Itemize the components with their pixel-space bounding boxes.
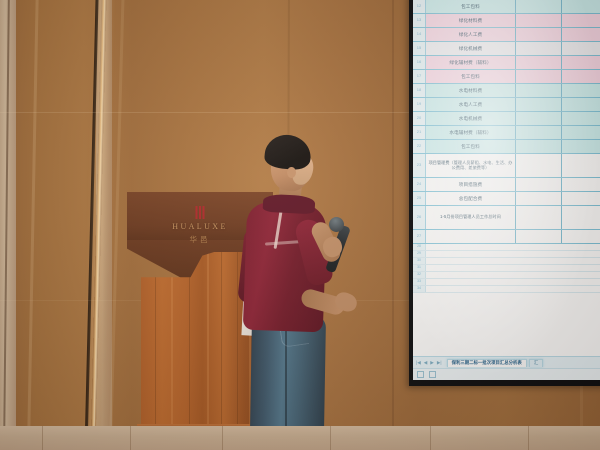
cell-value-c[interactable] (562, 192, 600, 205)
cell-empty[interactable] (426, 258, 600, 264)
cell-value-c[interactable] (562, 14, 600, 27)
table-row-empty[interactable]: 28 (413, 244, 600, 251)
cell-label[interactable]: 水电材料费 (426, 84, 516, 97)
cell-value-c[interactable] (562, 56, 600, 69)
row-header[interactable]: 27 (413, 230, 426, 243)
cell-label[interactable]: 总包配合费 (426, 192, 516, 205)
row-header[interactable]: 23 (413, 154, 426, 177)
table-row[interactable]: 24项目措施费 (413, 178, 600, 192)
table-row[interactable]: 14绿化人工费 (413, 28, 600, 42)
cell-label[interactable]: 绿化机械费 (426, 42, 516, 55)
cell-label[interactable]: 水电辅材费（辅料） (426, 126, 516, 139)
table-row[interactable]: 25总包配合费 (413, 192, 600, 206)
cell-value-c[interactable] (562, 70, 600, 83)
status-bar (413, 368, 600, 380)
cell-value-b[interactable] (516, 28, 562, 41)
cell-value-b[interactable] (516, 192, 562, 205)
row-header[interactable]: 13 (413, 14, 426, 27)
cell-empty[interactable] (426, 279, 600, 285)
table-row[interactable]: 21水电辅材费（辅料） (413, 126, 600, 140)
row-header[interactable]: 21 (413, 126, 426, 139)
cell-value-b[interactable] (516, 14, 562, 27)
cell-label[interactable]: 1-5月份项目管理人员工作总时间 (426, 206, 516, 229)
cell-value-c[interactable] (562, 0, 600, 13)
cell-value-c[interactable] (562, 154, 600, 177)
row-header[interactable]: 24 (413, 178, 426, 191)
cell-label[interactable]: 绿化人工费 (426, 28, 516, 41)
cell-value-b[interactable] (516, 42, 562, 55)
cell-value-c[interactable] (562, 42, 600, 55)
row-header[interactable]: 12 (413, 0, 426, 13)
row-header[interactable]: 32 (413, 272, 426, 278)
table-row[interactable]: 27 (413, 230, 600, 244)
spreadsheet-rows: 12包工包料13绿化材料费14绿化人工费15绿化机械费16绿化辅材费（辅料）17… (413, 0, 600, 244)
cell-value-b[interactable] (516, 126, 562, 139)
sheet-tab-next[interactable]: 汇 (529, 359, 543, 367)
cell-empty[interactable] (426, 265, 600, 271)
ready-icon (417, 371, 424, 378)
sheet-tab-active[interactable]: 保利三期二标一批次项目汇总分析表 (447, 359, 527, 367)
cell-value-c[interactable] (562, 112, 600, 125)
cell-label[interactable]: 包工包料 (426, 70, 516, 83)
cell-label[interactable]: 包工包料 (426, 140, 516, 153)
cell-label[interactable]: 包工包料 (426, 0, 516, 13)
next-sheet-icon[interactable]: ▶ (430, 360, 434, 365)
row-header[interactable]: 26 (413, 206, 426, 229)
presenter-hair (264, 133, 313, 171)
cell-empty[interactable] (426, 244, 600, 250)
cell-empty[interactable] (426, 286, 600, 292)
sheet-nav-buttons[interactable]: |◀ ◀ ▶ ▶| (413, 360, 445, 365)
cell-value-b[interactable] (516, 84, 562, 97)
cell-value-b[interactable] (516, 0, 562, 13)
row-header[interactable]: 15 (413, 42, 426, 55)
cell-label[interactable]: 绿化辅材费（辅料） (426, 56, 516, 69)
table-row[interactable]: 19水电人工费 (413, 98, 600, 112)
cell-empty[interactable] (426, 251, 600, 257)
cell-value-b[interactable] (516, 178, 562, 191)
table-row-empty[interactable]: 32 (413, 272, 600, 279)
table-row[interactable]: 12包工包料 (413, 0, 600, 14)
floor-seam-1 (42, 426, 43, 450)
cell-value-c[interactable] (562, 140, 600, 153)
cell-label[interactable]: 水电机械费 (426, 112, 516, 125)
wall-seam-6 (392, 0, 394, 450)
row-header[interactable]: 22 (413, 140, 426, 153)
row-header[interactable]: 33 (413, 279, 426, 285)
row-header[interactable]: 34 (413, 286, 426, 292)
cell-value-b[interactable] (516, 206, 562, 229)
cell-value-c[interactable] (562, 230, 600, 243)
cell-value-c[interactable] (562, 98, 600, 111)
table-row-empty[interactable]: 33 (413, 279, 600, 286)
cell-value-c[interactable] (562, 84, 600, 97)
table-row[interactable]: 20水电机械费 (413, 112, 600, 126)
presenter-collar (263, 194, 316, 215)
row-header[interactable]: 30 (413, 258, 426, 264)
cell-label[interactable]: 绿化材料费 (426, 14, 516, 27)
prev-sheet-icon[interactable]: ◀ (424, 360, 428, 365)
row-header[interactable]: 28 (413, 244, 426, 250)
cell-value-b[interactable] (516, 70, 562, 83)
table-row[interactable]: 23项目管理费（管理人员薪租、水电、生活、办公费用、差旅费等） (413, 154, 600, 178)
floor-seam-5 (430, 426, 431, 450)
floor-seam-4 (330, 426, 331, 450)
row-header[interactable]: 19 (413, 98, 426, 111)
cell-empty[interactable] (426, 272, 600, 278)
cell-value-c[interactable] (562, 206, 600, 229)
cell-value-b[interactable] (516, 112, 562, 125)
table-row[interactable]: 16绿化辅材费（辅料） (413, 56, 600, 70)
table-row[interactable]: 17包工包料 (413, 70, 600, 84)
table-row[interactable]: 22包工包料 (413, 140, 600, 154)
projection-screen-surface: 12包工包料13绿化材料费14绿化人工费15绿化机械费16绿化辅材费（辅料）17… (413, 0, 600, 380)
presentation-scene: 12包工包料13绿化材料费14绿化人工费15绿化机械费16绿化辅材费（辅料）17… (0, 0, 600, 450)
cell-value-c[interactable] (562, 28, 600, 41)
cell-value-b[interactable] (516, 230, 562, 243)
cell-value-b[interactable] (516, 154, 562, 177)
cell-value-c[interactable] (562, 178, 600, 191)
cell-label[interactable]: 项目管理费（管理人员薪租、水电、生活、办公费用、差旅费等） (426, 154, 516, 177)
spreadsheet-empty-rows: 28293031323334 (413, 244, 600, 293)
row-header[interactable]: 18 (413, 84, 426, 97)
table-row[interactable]: 18水电材料费 (413, 84, 600, 98)
table-row-empty[interactable]: 30 (413, 258, 600, 265)
table-row[interactable]: 15绿化机械费 (413, 42, 600, 56)
row-header[interactable]: 29 (413, 251, 426, 257)
cell-label[interactable]: 水电人工费 (426, 98, 516, 111)
row-header[interactable]: 17 (413, 70, 426, 83)
view-icon (429, 371, 436, 378)
row-header[interactable]: 31 (413, 265, 426, 271)
cell-value-b[interactable] (516, 140, 562, 153)
hualuxe-logo-mark-icon (196, 206, 205, 219)
floor-seam-6 (528, 426, 529, 450)
stage-floor (0, 426, 600, 450)
projection-screen: 12包工包料13绿化材料费14绿化人工费15绿化机械费16绿化辅材费（辅料）17… (409, 0, 600, 386)
cell-value-b[interactable] (516, 56, 562, 69)
row-header[interactable]: 25 (413, 192, 426, 205)
cell-value-c[interactable] (562, 126, 600, 139)
table-row[interactable]: 13绿化材料费 (413, 14, 600, 28)
table-row-empty[interactable]: 31 (413, 265, 600, 272)
presenter (243, 133, 365, 433)
row-header[interactable]: 14 (413, 28, 426, 41)
table-row[interactable]: 261-5月份项目管理人员工作总时间 (413, 206, 600, 230)
floor-seam-2 (130, 426, 131, 450)
cell-label[interactable]: 项目措施费 (426, 178, 516, 191)
first-sheet-icon[interactable]: |◀ (416, 360, 421, 365)
floor-seam-3 (222, 426, 223, 450)
presenter-ear (287, 167, 296, 178)
table-row-empty[interactable]: 34 (413, 286, 600, 293)
cell-value-b[interactable] (516, 98, 562, 111)
row-header[interactable]: 16 (413, 56, 426, 69)
last-sheet-icon[interactable]: ▶| (437, 360, 442, 365)
spreadsheet-app[interactable]: 12包工包料13绿化材料费14绿化人工费15绿化机械费16绿化辅材费（辅料）17… (413, 0, 600, 380)
row-header[interactable]: 20 (413, 112, 426, 125)
table-row-empty[interactable]: 29 (413, 251, 600, 258)
cell-label[interactable] (426, 230, 516, 243)
